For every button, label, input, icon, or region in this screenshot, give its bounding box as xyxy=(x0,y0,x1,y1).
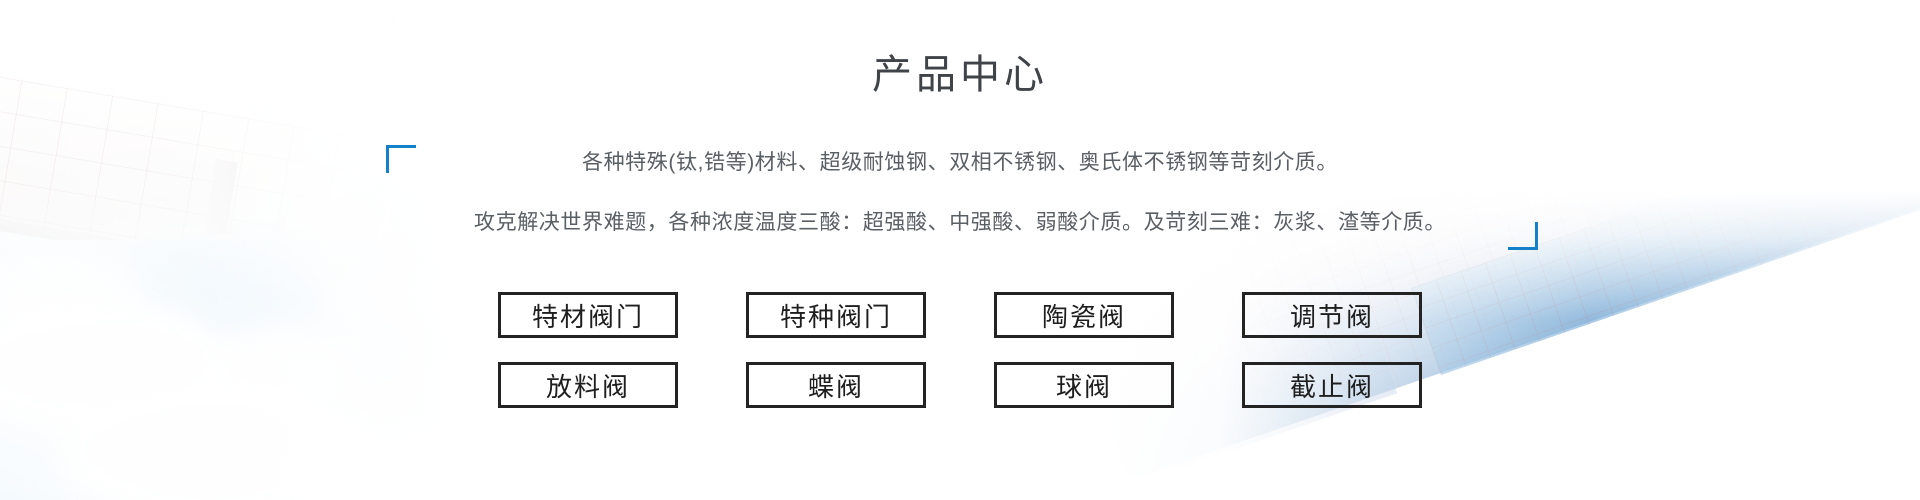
tag-row-1: 特材阀门 特种阀门 陶瓷阀 调节阀 xyxy=(0,292,1920,338)
page-title: 产品中心 xyxy=(0,50,1920,100)
tag-te-cai-fa-men[interactable]: 特材阀门 xyxy=(498,292,678,338)
tag-row-2: 放料阀 蝶阀 球阀 截止阀 xyxy=(0,362,1920,408)
bracket-vertical-line xyxy=(1535,222,1538,250)
product-center-banner: 产品中心 各种特殊(钛,锆等)材料、超级耐蚀钢、双相不锈钢、奥氏体不锈钢等苛刻介… xyxy=(0,0,1920,500)
tag-tao-ci-fa[interactable]: 陶瓷阀 xyxy=(994,292,1174,338)
bracket-horizontal-line xyxy=(1508,247,1538,250)
tag-tiao-jie-fa[interactable]: 调节阀 xyxy=(1242,292,1422,338)
tag-die-fa[interactable]: 蝶阀 xyxy=(746,362,926,408)
tag-fang-liao-fa[interactable]: 放料阀 xyxy=(498,362,678,408)
corner-bracket-bottom-right-icon xyxy=(1508,222,1538,250)
description-line-2: 攻克解决世界难题，各种浓度温度三酸：超强酸、中强酸、弱酸介质。及苛刻三难：灰浆、… xyxy=(0,208,1920,238)
tag-jie-zhi-fa[interactable]: 截止阀 xyxy=(1242,362,1422,408)
description-line-1: 各种特殊(钛,锆等)材料、超级耐蚀钢、双相不锈钢、奥氏体不锈钢等苛刻介质。 xyxy=(0,148,1920,178)
tag-te-zhong-fa-men[interactable]: 特种阀门 xyxy=(746,292,926,338)
tag-qiu-fa[interactable]: 球阀 xyxy=(994,362,1174,408)
banner-content: 产品中心 各种特殊(钛,锆等)材料、超级耐蚀钢、双相不锈钢、奥氏体不锈钢等苛刻介… xyxy=(0,0,1920,500)
product-category-tags: 特材阀门 特种阀门 陶瓷阀 调节阀 放料阀 蝶阀 球阀 截止阀 xyxy=(0,292,1920,432)
